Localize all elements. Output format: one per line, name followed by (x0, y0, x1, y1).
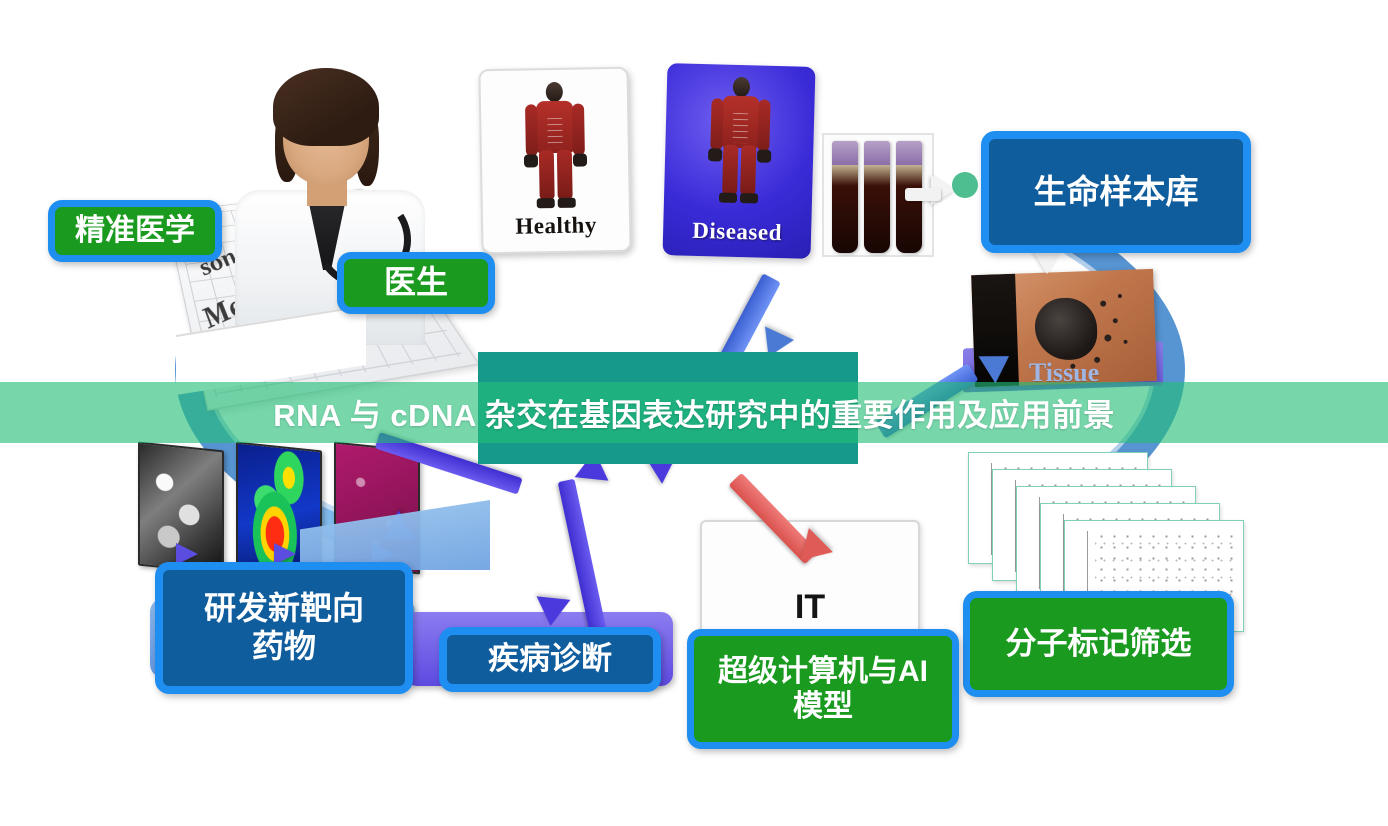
tag-supercomputer-ai-model-label: 超级计算机与AI 模型 (718, 654, 928, 725)
tag-precision-medicine-label: 精准医学 (75, 213, 195, 248)
doctor-hair (273, 68, 379, 146)
tag-biobank[interactable]: 生命样本库 (981, 131, 1251, 253)
diseased-card-caption: Diseased (663, 217, 812, 247)
white-arrow-shaft (905, 188, 941, 201)
healthy-body-figure (518, 81, 592, 212)
it-caption: IT (700, 588, 920, 627)
diseased-body-figure (702, 76, 777, 208)
healthy-body-card: Healthy (478, 67, 631, 255)
tag-disease-diagnosis-label: 疾病诊断 (488, 641, 612, 678)
diagram-canvas: sonaliz Medicine Healthy (0, 0, 1388, 826)
tag-doctor[interactable]: 医生 (337, 252, 495, 314)
tag-disease-diagnosis[interactable]: 疾病诊断 (439, 627, 661, 692)
tag-precision-medicine[interactable]: 精准医学 (48, 200, 222, 262)
tag-biobank-label: 生命样本库 (1034, 173, 1199, 212)
blood-tube (864, 141, 890, 253)
blood-tube (832, 141, 858, 253)
tag-supercomputer-ai-model[interactable]: 超级计算机与AI 模型 (687, 629, 959, 749)
page-title: RNA 与 cDNA 杂交在基因表达研究中的重要作用及应用前景 (0, 382, 1388, 443)
tag-doctor-label: 医生 (384, 264, 448, 302)
tag-new-targeted-drug-rnd-label: 研发新靶向 药物 (204, 590, 364, 666)
tag-new-targeted-drug-rnd[interactable]: 研发新靶向 药物 (155, 562, 413, 694)
healthy-card-caption: Healthy (483, 212, 629, 241)
diseased-body-card: Diseased (663, 63, 816, 259)
arrow-center-to-diagnosis-head (534, 596, 571, 627)
tag-molecular-marker-screening[interactable]: 分子标记筛选 (963, 591, 1234, 697)
green-dot-icon (952, 172, 978, 198)
tag-molecular-marker-screening-label: 分子标记筛选 (1006, 626, 1192, 663)
